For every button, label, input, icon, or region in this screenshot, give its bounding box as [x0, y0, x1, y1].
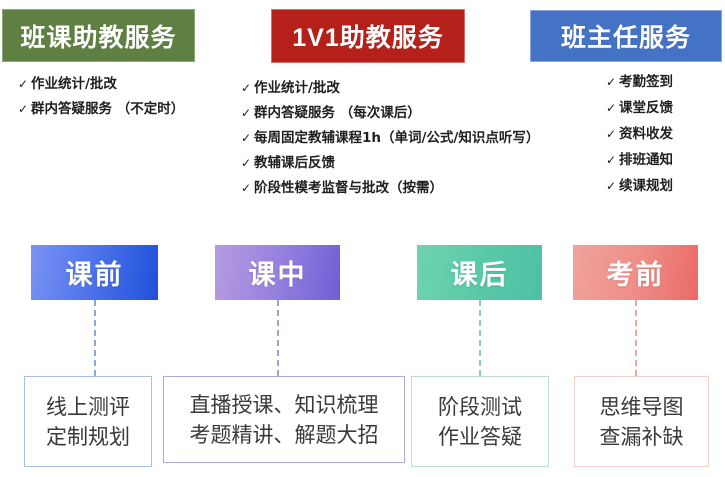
list-item: ✓ 群内答疑服务 （每次课后） — [241, 105, 539, 122]
list-item: ✓ 教辅课后反馈 — [241, 155, 539, 172]
banner-one-on-one-assistant: 1V1助教服务 — [271, 9, 465, 63]
list-item-label: 群内答疑服务 （每次课后） — [254, 105, 421, 122]
detail-card-during-class: 直播授课、知识梳理 考题精讲、解题大招 — [163, 376, 405, 463]
checklist-class-assistant: ✓ 作业统计/批改 ✓ 群内答疑服务 （不定时） — [18, 76, 184, 126]
stage-chip-after-class-label: 课后 — [451, 253, 509, 292]
detail-card-line: 线上测评 — [46, 392, 130, 422]
list-item-label: 课堂反馈 — [619, 100, 673, 117]
stage-chip-during-class-label: 课中 — [249, 253, 307, 292]
detail-card-line: 直播授课、知识梳理 — [190, 390, 379, 420]
check-icon: ✓ — [18, 76, 31, 93]
stage-chip-after-class: 课后 — [417, 245, 542, 300]
list-item: ✓ 续课规划 — [606, 178, 673, 195]
list-item: ✓ 资料收发 — [606, 126, 673, 143]
list-item: ✓ 阶段性模考监督与批改（按需） — [241, 180, 539, 197]
check-icon: ✓ — [241, 130, 254, 147]
list-item-label: 群内答疑服务 （不定时） — [31, 101, 184, 118]
detail-card-line: 思维导图 — [600, 392, 684, 422]
check-icon: ✓ — [18, 101, 31, 118]
check-icon: ✓ — [606, 152, 619, 169]
list-item: ✓ 作业统计/批改 — [18, 76, 184, 93]
list-item-label: 考勤签到 — [619, 74, 673, 91]
list-item-label: 阶段性模考监督与批改（按需） — [254, 180, 443, 197]
stage-chip-during-class: 课中 — [215, 245, 340, 300]
detail-card-line: 考题精讲、解题大招 — [190, 420, 379, 450]
check-icon: ✓ — [241, 80, 254, 97]
check-icon: ✓ — [606, 74, 619, 91]
stage-chip-before-class: 课前 — [31, 245, 158, 300]
check-icon: ✓ — [606, 100, 619, 117]
connector-line-during-class — [277, 300, 279, 376]
banner-head-teacher: 班主任服务 — [530, 10, 722, 62]
connector-line-after-class — [479, 300, 481, 376]
list-item-label: 资料收发 — [619, 126, 673, 143]
banner-one-on-one-assistant-label: 1V1助教服务 — [292, 18, 443, 54]
detail-card-line: 查漏补缺 — [600, 422, 684, 452]
list-item: ✓ 群内答疑服务 （不定时） — [18, 101, 184, 118]
connector-line-before-exam — [635, 300, 637, 376]
checklist-one-on-one-assistant: ✓ 作业统计/批改 ✓ 群内答疑服务 （每次课后） ✓ 每周固定教辅课程1h（单… — [241, 80, 539, 205]
detail-card-before-exam: 思维导图 查漏补缺 — [574, 376, 709, 467]
check-icon: ✓ — [241, 105, 254, 122]
connector-line-before-class — [94, 300, 96, 376]
list-item: ✓ 课堂反馈 — [606, 100, 673, 117]
list-item-label: 教辅课后反馈 — [254, 155, 335, 172]
checklist-head-teacher: ✓ 考勤签到 ✓ 课堂反馈 ✓ 资料收发 ✓ 排班通知 ✓ 续课规划 — [606, 74, 673, 204]
list-item-label: 排班通知 — [619, 152, 673, 169]
list-item-label: 作业统计/批改 — [31, 76, 117, 93]
stage-chip-before-exam-label: 考前 — [607, 253, 665, 292]
banner-class-assistant: 班课助教服务 — [2, 9, 195, 62]
check-icon: ✓ — [606, 126, 619, 143]
detail-card-line: 定制规划 — [46, 422, 130, 452]
detail-card-line: 阶段测试 — [438, 392, 522, 422]
list-item: ✓ 考勤签到 — [606, 74, 673, 91]
list-item-label: 续课规划 — [619, 178, 673, 195]
list-item-label: 作业统计/批改 — [254, 80, 340, 97]
stage-chip-before-class-label: 课前 — [66, 253, 124, 292]
list-item-label: 每周固定教辅课程1h（单词/公式/知识点听写） — [254, 130, 539, 147]
banner-class-assistant-label: 班课助教服务 — [20, 18, 176, 54]
poster-canvas: 班课助教服务 1V1助教服务 班主任服务 ✓ 作业统计/批改 ✓ 群内答疑服务 … — [0, 0, 725, 477]
check-icon: ✓ — [606, 178, 619, 195]
list-item: ✓ 排班通知 — [606, 152, 673, 169]
detail-card-before-class: 线上测评 定制规划 — [24, 376, 152, 467]
check-icon: ✓ — [241, 155, 254, 172]
list-item: ✓ 每周固定教辅课程1h（单词/公式/知识点听写） — [241, 130, 539, 147]
detail-card-after-class: 阶段测试 作业答疑 — [411, 376, 549, 467]
stage-chip-before-exam: 考前 — [573, 245, 698, 300]
list-item: ✓ 作业统计/批改 — [241, 80, 539, 97]
check-icon: ✓ — [241, 180, 254, 197]
banner-head-teacher-label: 班主任服务 — [561, 18, 691, 54]
detail-card-line: 作业答疑 — [438, 422, 522, 452]
